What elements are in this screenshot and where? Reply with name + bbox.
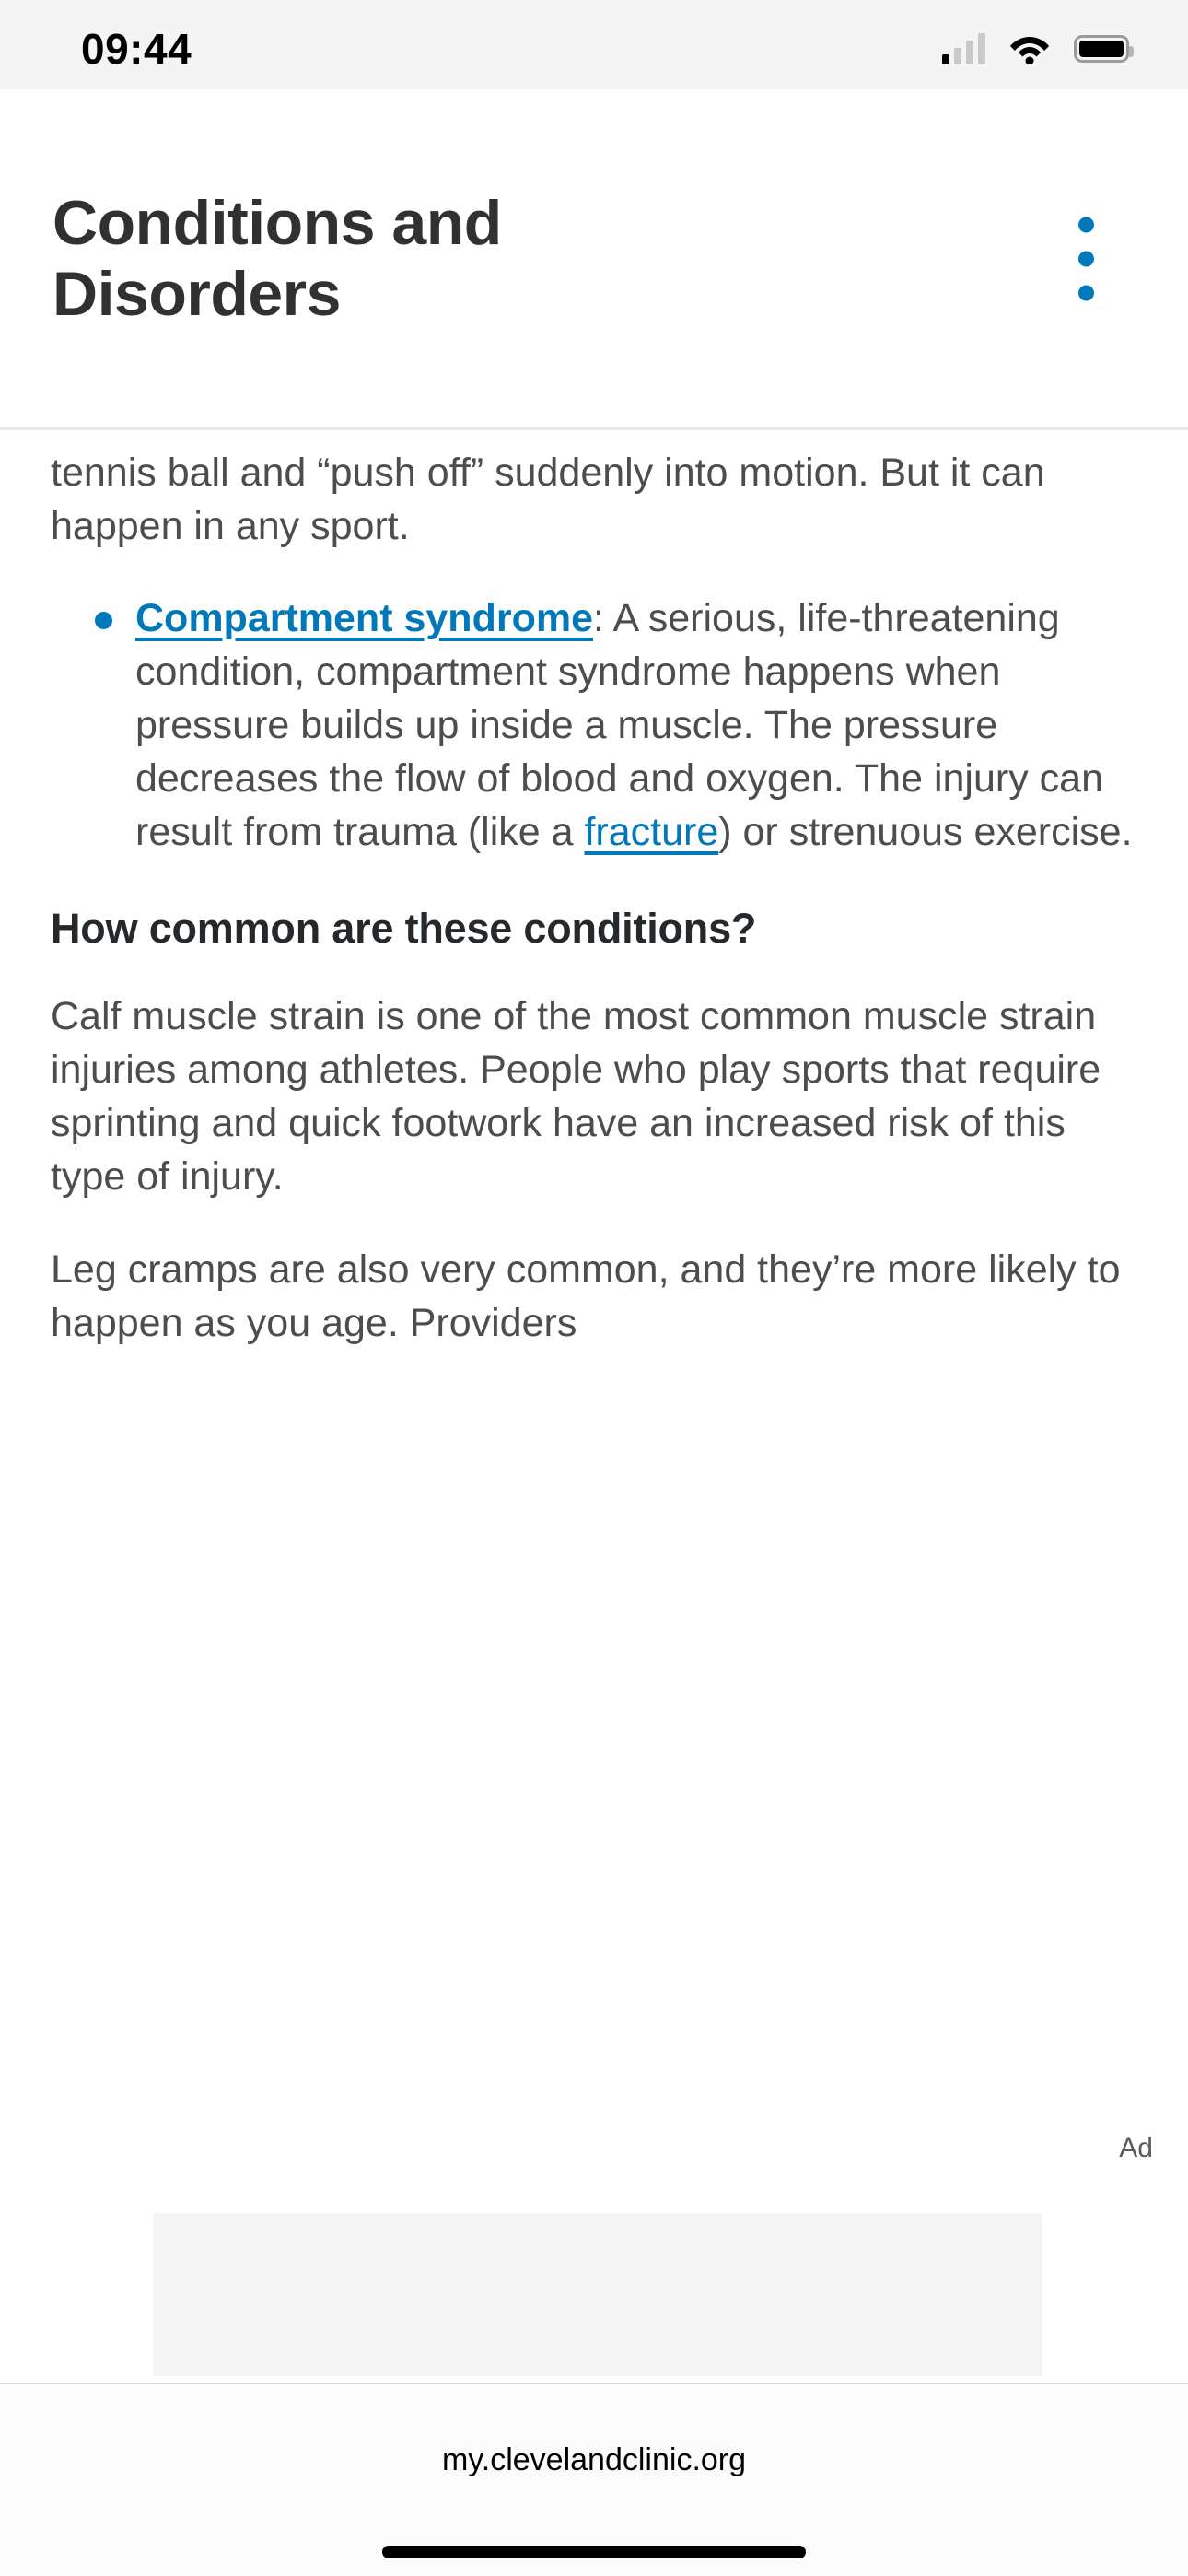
link-compartment-syndrome[interactable]: Compartment syndrome	[135, 596, 593, 640]
ad-placeholder[interactable]	[153, 2213, 1042, 2376]
wifi-icon	[1009, 33, 1050, 64]
kebab-menu-icon[interactable]	[1064, 202, 1109, 315]
ad-label: Ad	[1119, 2133, 1153, 2164]
app-header: Conditions and Disorders	[0, 89, 1188, 430]
list-item: Compartment syndrome: A serious, life-th…	[51, 591, 1137, 859]
status-time: 09:44	[81, 24, 192, 74]
article-content[interactable]: tennis ball and “push off” suddenly into…	[0, 433, 1188, 2142]
kebab-dot-2	[1078, 251, 1094, 266]
ad-slot[interactable]: Ad	[0, 2119, 1188, 2382]
paragraph-3: Leg cramps are also very common, and the…	[0, 1243, 1188, 1350]
status-icons	[942, 33, 1129, 64]
url-label[interactable]: my.clevelandclinic.org	[442, 2442, 746, 2478]
paragraph-cut-top: tennis ball and “push off” suddenly into…	[0, 446, 1188, 553]
paragraph-2: Calf muscle strain is one of the most co…	[0, 989, 1188, 1203]
status-bar: 09:44	[0, 0, 1188, 89]
browser-footer: my.clevelandclinic.org	[0, 2383, 1188, 2576]
home-indicator-bar[interactable]	[382, 2546, 806, 2558]
kebab-dot-1	[1078, 217, 1094, 232]
cellular-signal-icon	[942, 33, 985, 64]
section-heading: How common are these conditions?	[0, 905, 1188, 953]
phone-screen: 09:44 Conditions and Disorders	[0, 0, 1188, 2576]
bullet-text-part-2: ) or strenuous exercise.	[718, 810, 1132, 854]
page-title: Conditions and Disorders	[52, 188, 697, 328]
bullet-list: Compartment syndrome: A serious, life-th…	[0, 591, 1188, 859]
kebab-dot-3	[1078, 285, 1094, 300]
link-fracture[interactable]: fracture	[584, 810, 718, 854]
battery-icon	[1074, 35, 1129, 63]
